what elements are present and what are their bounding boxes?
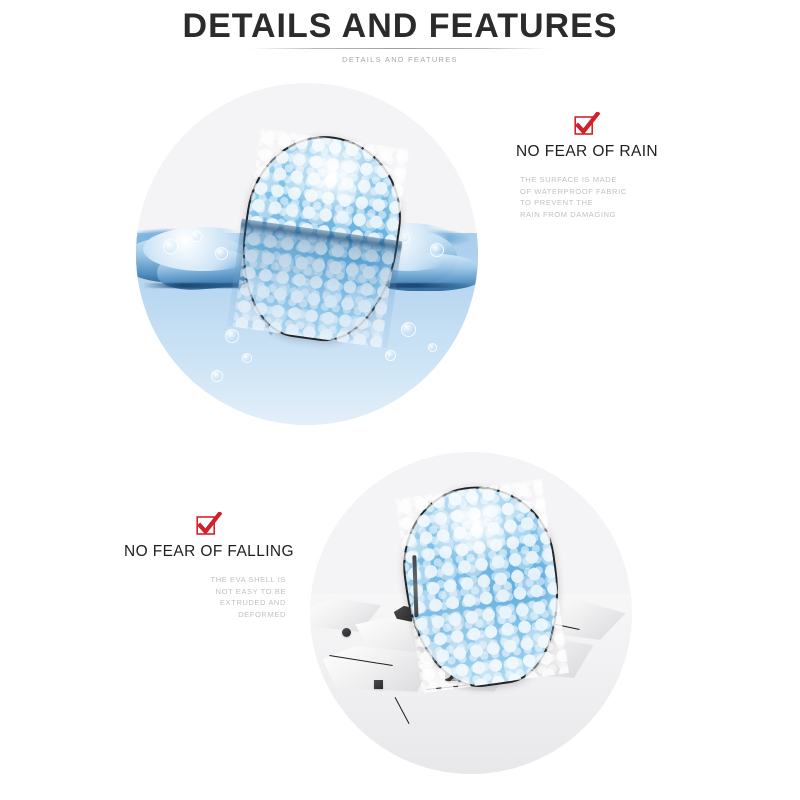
page-title: DETAILS AND FEATURES xyxy=(0,0,800,46)
debris-chip xyxy=(342,628,351,637)
case-texture xyxy=(395,479,569,694)
red-checkbox-icon xyxy=(104,512,314,538)
feature-heading: NO FEAR OF FALLING xyxy=(104,542,314,562)
red-checkbox-icon xyxy=(482,112,692,138)
debris-chip xyxy=(374,680,383,689)
page-subtitle: DETAILS AND FEATURES xyxy=(0,55,800,65)
feature-body-line: THE EVA SHELL IS xyxy=(104,574,286,586)
product-case xyxy=(231,126,412,349)
feature-body-line: RAIN FROM DAMAGING xyxy=(520,209,692,221)
feature-block-falling: NO FEAR OF FALLING THE EVA SHELL IS NOT … xyxy=(104,512,314,620)
feature-body: THE EVA SHELL IS NOT EASY TO BE EXTRUDED… xyxy=(104,574,314,620)
photo-water-circle xyxy=(136,83,478,425)
feature-body-line: TO PREVENT THE xyxy=(520,197,692,209)
page-header: DETAILS AND FEATURES DETAILS AND FEATURE… xyxy=(0,0,800,65)
feature-body-line: DEFORMED xyxy=(104,609,286,621)
feature-body-line: NOT EASY TO BE xyxy=(104,586,286,598)
bubble xyxy=(428,343,437,352)
feature-body-line: OF WATERPROOF FABRIC xyxy=(520,186,692,198)
crack-line xyxy=(395,697,410,724)
title-divider xyxy=(250,48,550,49)
product-detail-page: DETAILS AND FEATURES DETAILS AND FEATURE… xyxy=(0,0,800,800)
feature-block-rain: NO FEAR OF RAIN THE SURFACE IS MADE OF W… xyxy=(482,112,692,220)
product-case xyxy=(393,476,571,695)
feature-body-line: EXTRUDED AND xyxy=(104,597,286,609)
bubble xyxy=(385,350,396,361)
feature-heading: NO FEAR OF RAIN xyxy=(482,142,692,162)
feature-body-line: THE SURFACE IS MADE xyxy=(520,174,692,186)
feature-body: THE SURFACE IS MADE OF WATERPROOF FABRIC… xyxy=(482,174,692,220)
photo-break-circle xyxy=(310,452,632,774)
